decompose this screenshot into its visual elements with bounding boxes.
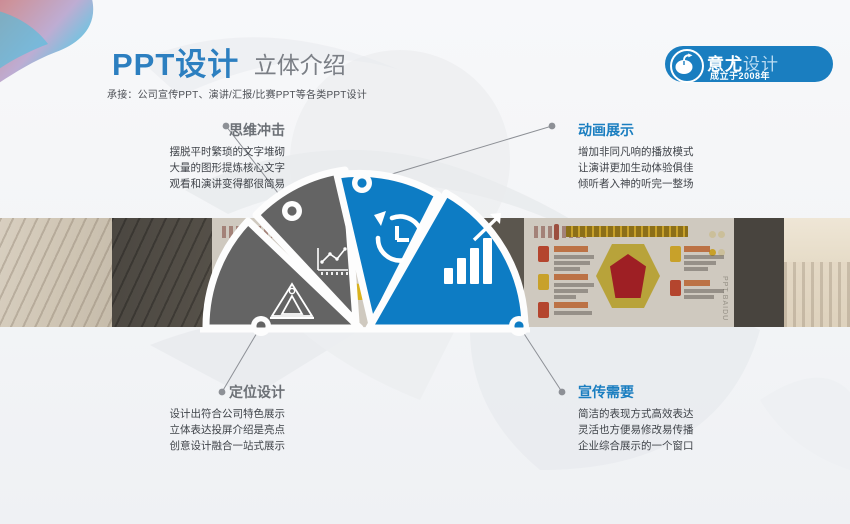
callout-bottom-right-line-2: 灵活也方便易修改易传播 (578, 422, 793, 438)
callout-bottom-left-line-1: 设计出符合公司特色展示 (70, 406, 285, 422)
callout-bottom-left: 定位设计 设计出符合公司特色展示 立体表达投屏介绍是亮点 创意设计融合一站式展示 (70, 384, 285, 455)
connector-bottom-right (519, 326, 562, 392)
dot-top-right (549, 123, 556, 130)
connector-bottom-left (222, 326, 261, 392)
callout-bottom-right-line-1: 简洁的表现方式高效表达 (578, 406, 793, 422)
callout-top-left-line-2: 大量的图形提炼核心文字 (70, 160, 285, 176)
slide-canvas: 01 PPT.BAIDU (0, 0, 850, 524)
callout-top-right-line-3: 倾听者入神的听完一整场 (578, 176, 793, 192)
callout-top-right: 动画展示 增加非同凡响的播放模式 让演讲更加生动体验俱佳 倾听者入神的听完一整场 (578, 122, 793, 193)
callout-top-right-line-2: 让演讲更加生动体验俱佳 (578, 160, 793, 176)
callout-bottom-left-title: 定位设计 (70, 384, 285, 401)
dot-bottom-right (559, 389, 566, 396)
callout-top-left-line-3: 观看和演讲变得都很简易 (70, 176, 285, 192)
callout-top-left-line-1: 摆脱平时繁琐的文字堆砌 (70, 144, 285, 160)
callout-bottom-right-title: 宣传需要 (578, 384, 793, 401)
callout-top-right-line-1: 增加非同凡响的播放模式 (578, 144, 793, 160)
node-top-left-inner (287, 206, 296, 215)
callout-bottom-left-line-2: 立体表达投屏介绍是亮点 (70, 422, 285, 438)
callout-top-left-title: 思维冲击 (70, 122, 285, 139)
callout-top-left: 思维冲击 摆脱平时繁琐的文字堆砌 大量的图形提炼核心文字 观看和演讲变得都很简易 (70, 122, 285, 193)
callout-bottom-right-line-3: 企业综合展示的一个窗口 (578, 438, 793, 454)
node-top-right-inner (357, 178, 366, 187)
callout-bottom-left-line-3: 创意设计融合一站式展示 (70, 438, 285, 454)
callout-top-right-title: 动画展示 (578, 122, 793, 139)
callout-bottom-right: 宣传需要 简洁的表现方式高效表达 灵活也方便易修改易传播 企业综合展示的一个窗口 (578, 384, 793, 455)
